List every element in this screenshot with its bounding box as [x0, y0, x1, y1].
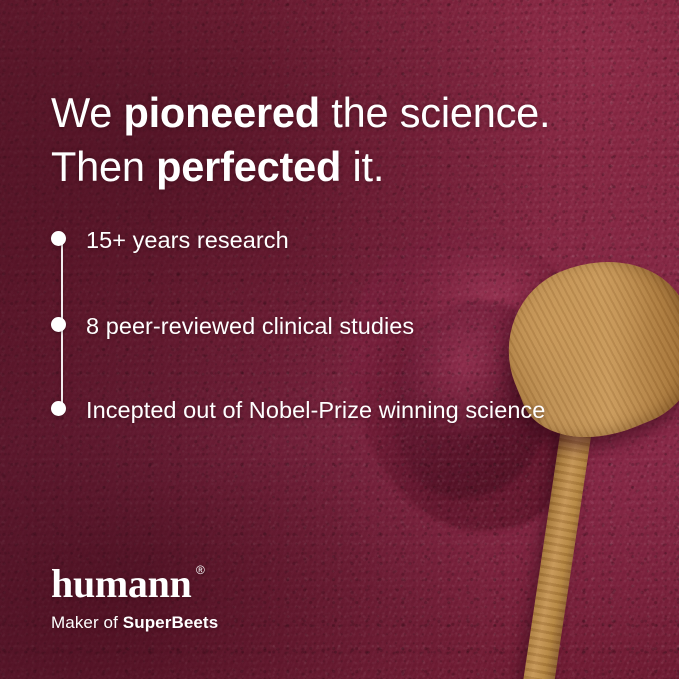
headline: We pioneered the science. Then perfected…: [51, 86, 651, 194]
headline-line-1: We pioneered the science.: [51, 86, 651, 140]
brand-logo-wordmark: humann: [51, 561, 192, 606]
brand-tagline: Maker of SuperBeets: [51, 612, 218, 633]
list-item: Incepted out of Nobel-Prize winning scie…: [51, 396, 611, 425]
claims-list: 15+ years research 8 peer-reviewed clini…: [51, 226, 611, 425]
brand-block: humann® Maker of SuperBeets: [51, 563, 218, 633]
list-item-label: Incepted out of Nobel-Prize winning scie…: [86, 396, 545, 425]
headline-line-2-pre: Then: [51, 143, 156, 190]
brand-tagline-pre: Maker of: [51, 613, 123, 632]
list-item: 15+ years research: [51, 226, 611, 255]
overlay-content: We pioneered the science. Then perfected…: [0, 0, 679, 679]
list-item-label: 15+ years research: [86, 226, 289, 255]
headline-line-2-emphasis: perfected: [156, 143, 341, 190]
bullet-dot-icon: [51, 231, 66, 246]
brand-logo: humann®: [51, 563, 192, 605]
headline-line-1-emphasis: pioneered: [123, 89, 320, 136]
bullet-dot-icon: [51, 401, 66, 416]
headline-line-1-pre: We: [51, 89, 123, 136]
headline-line-1-post: the science.: [320, 89, 550, 136]
registered-trademark-icon: ®: [196, 564, 205, 576]
headline-line-2-post: it.: [341, 143, 384, 190]
brand-tagline-product: SuperBeets: [123, 613, 218, 632]
product-marketing-image: We pioneered the science. Then perfected…: [0, 0, 679, 679]
list-item: 8 peer-reviewed clinical studies: [51, 312, 611, 341]
list-item-label: 8 peer-reviewed clinical studies: [86, 312, 414, 341]
headline-line-2: Then perfected it.: [51, 140, 651, 194]
bullet-dot-icon: [51, 317, 66, 332]
